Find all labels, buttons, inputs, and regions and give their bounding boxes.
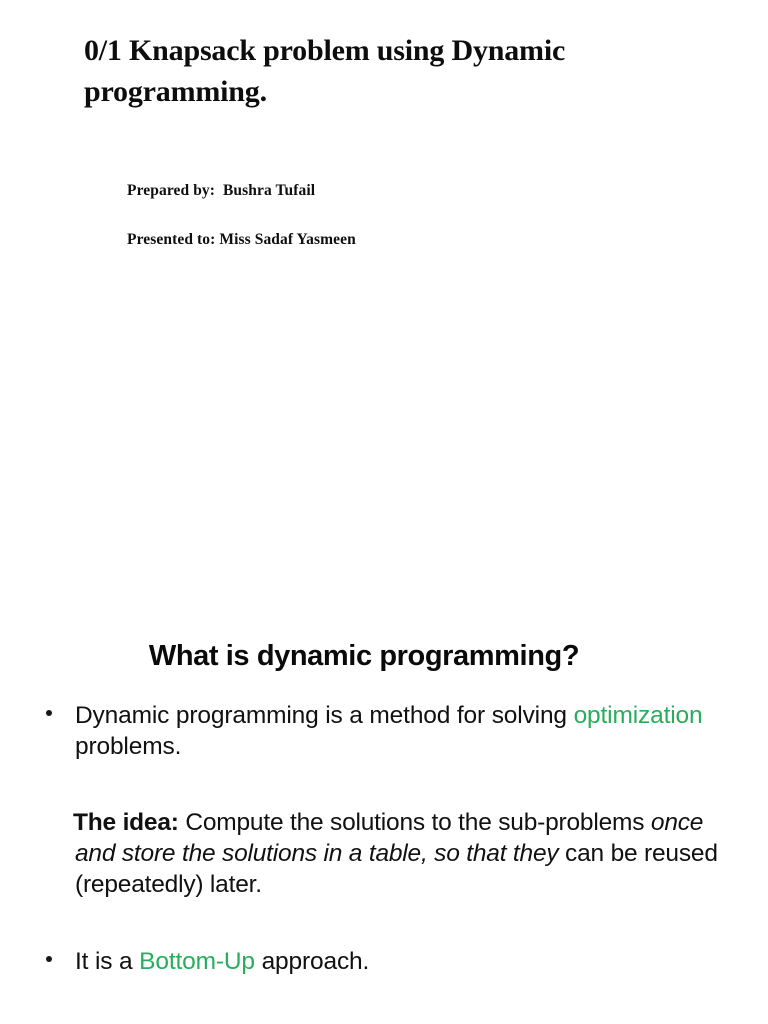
page-title-line-1: 0/1 Knapsack problem using Dynamic — [84, 30, 684, 71]
list-item: Dynamic programming is a method for solv… — [0, 700, 768, 762]
page-title-line-2: programming. — [84, 71, 684, 112]
presented-to-line: Presented to: Miss Sadaf Yasmeen — [127, 229, 647, 251]
bullet-dot-icon — [46, 710, 52, 716]
page-title: 0/1 Knapsack problem using Dynamic progr… — [84, 30, 684, 112]
section-heading: What is dynamic programming? — [0, 638, 768, 674]
list-item-text: Dynamic programming is a method for solv… — [75, 700, 724, 762]
list-item-text-tail: problems. — [75, 733, 181, 760]
accent-term-bottom-up: Bottom-Up — [139, 948, 255, 975]
idea-paragraph: The idea: Compute the solutions to the s… — [0, 807, 768, 900]
bullet-dot-icon — [46, 956, 52, 962]
idea-body-part-1: Compute the solutions to the sub-problem… — [179, 809, 651, 836]
slide-what-is-dynamic-programming: What is dynamic programming? Dynamic pro… — [0, 600, 768, 1024]
list-item-text-lead: It is a — [75, 948, 139, 975]
accent-term-optimization: optimization — [574, 702, 703, 729]
list-item-text-lead: Dynamic programming is a method for solv… — [75, 702, 574, 729]
bullet-list: Dynamic programming is a method for solv… — [0, 700, 768, 977]
list-item-text-tail: approach. — [255, 948, 369, 975]
slide-title-page: 0/1 Knapsack problem using Dynamic progr… — [0, 0, 768, 600]
idea-lead-label: The idea: — [73, 809, 179, 836]
document-page: 0/1 Knapsack problem using Dynamic progr… — [0, 0, 768, 1024]
list-item: It is a Bottom-Up approach. — [0, 946, 768, 977]
list-item-text: It is a Bottom-Up approach. — [75, 946, 724, 977]
prepared-by-line: Prepared by: Bushra Tufail — [127, 180, 647, 202]
credits-block: Prepared by: Bushra Tufail Presented to:… — [127, 180, 647, 251]
